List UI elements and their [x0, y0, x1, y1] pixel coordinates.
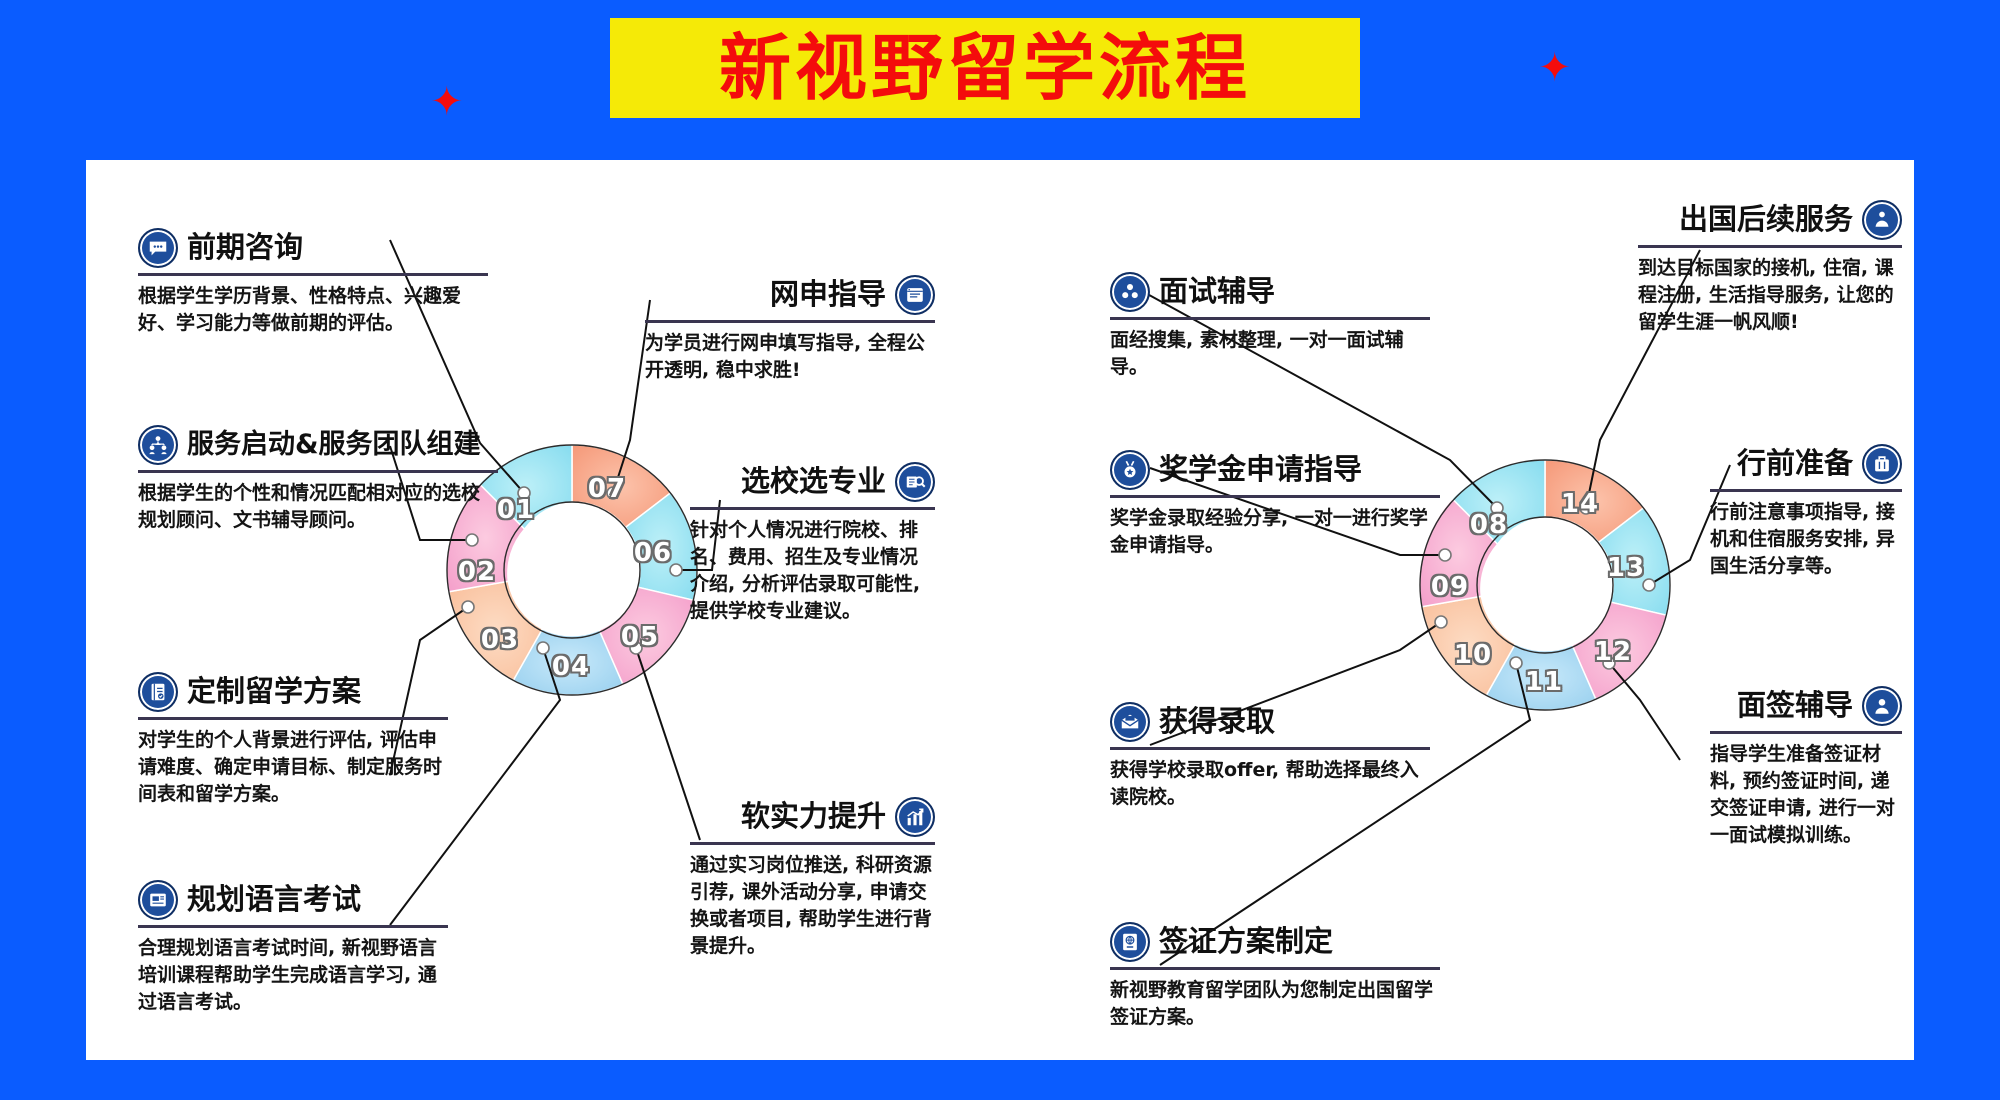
step-title-08: 面试辅导 [1159, 276, 1275, 308]
sparkle-left-icon: ✦ [430, 82, 464, 122]
step-rule-11 [1110, 967, 1440, 970]
step-desc-09: 奖学金录取经验分享, 一对一进行奖学金申请指导。 [1110, 505, 1440, 559]
step-block-06[interactable]: 选校选专业 针对个人情况进行院校、排名、费用、招生及专业情况介绍, 分析评估录取… [690, 462, 935, 625]
step-title-13: 行前准备 [1737, 448, 1853, 480]
step-block-03[interactable]: 定制留学方案 对学生的个人背景进行评估, 评估申请难度、确定申请目标、制定服务时… [138, 672, 448, 808]
step-rule-08 [1110, 317, 1430, 320]
step-rule-13 [1710, 489, 1902, 492]
step-block-05[interactable]: 软实力提升 通过实习岗位推送, 科研资源引荐, 课外活动分享, 申请交换或者项目… [690, 797, 935, 960]
people-group-icon [1110, 272, 1150, 312]
step-title-01: 前期咨询 [187, 232, 303, 264]
step-desc-11: 新视野教育留学团队为您制定出国留学签证方案。 [1110, 977, 1440, 1031]
step-rule-12 [1710, 731, 1902, 734]
speech-bubble-icon [138, 228, 178, 268]
step-block-09[interactable]: 奖学金申请指导 奖学金录取经验分享, 一对一进行奖学金申请指导。 [1110, 450, 1440, 559]
step-header-10: 获得录取 [1110, 702, 1430, 747]
step-title-03: 定制留学方案 [187, 676, 361, 708]
step-title-02: 服务启动&服务团队组建 [187, 430, 481, 460]
sparkle-right-icon: ✦ [1538, 48, 1572, 88]
step-desc-06: 针对个人情况进行院校、排名、费用、招生及专业情况介绍, 分析评估录取可能性, 提… [690, 517, 935, 625]
step-title-06: 选校选专业 [741, 466, 886, 498]
step-desc-13: 行前注意事项指导, 接机和住宿服务安排, 异国生活分享等。 [1710, 499, 1902, 580]
step-desc-08: 面经搜集, 素材整理, 一对一面试辅导。 [1110, 327, 1430, 381]
step-header-05: 软实力提升 [690, 797, 935, 842]
medal-icon [1110, 450, 1150, 490]
step-desc-04: 合理规划语言考试时间, 新视野语言培训课程帮助学生完成语言学习, 通过语言考试。 [138, 935, 448, 1016]
step-rule-09 [1110, 495, 1440, 498]
step-block-14[interactable]: 出国后续服务 到达目标国家的接机, 住宿, 课程注册, 生活指导服务, 让您的留… [1638, 200, 1902, 336]
passport-icon [1110, 922, 1150, 962]
step-block-01[interactable]: 前期咨询 根据学生学历背景、性格特点、兴趣爱好、学习能力等做前期的评估。 [138, 228, 488, 337]
step-rule-03 [138, 717, 448, 720]
person-badge-icon [1862, 686, 1902, 726]
support-person-icon [1862, 200, 1902, 240]
infographic-root: ✦ ✦ 新视野留学流程 [0, 0, 2000, 1100]
document-plan-icon [138, 672, 178, 712]
step-rule-06 [690, 507, 935, 510]
step-header-02: 服务启动&服务团队组建 [138, 425, 498, 470]
step-block-02[interactable]: 服务启动&服务团队组建 根据学生的个性和情况匹配相对应的选校规划顾问、文书辅导顾… [138, 425, 498, 534]
step-rule-05 [690, 842, 935, 845]
step-header-03: 定制留学方案 [138, 672, 448, 717]
step-rule-14 [1638, 245, 1902, 248]
step-block-11[interactable]: 签证方案制定 新视野教育留学团队为您制定出国留学签证方案。 [1110, 922, 1440, 1031]
step-block-13[interactable]: 行前准备 行前注意事项指导, 接机和住宿服务安排, 异国生活分享等。 [1710, 444, 1902, 580]
step-rule-07 [645, 320, 935, 323]
step-header-08: 面试辅导 [1110, 272, 1430, 317]
step-rule-02 [138, 470, 498, 473]
step-desc-03: 对学生的个人背景进行评估, 评估申请难度、确定申请目标、制定服务时间表和留学方案… [138, 727, 448, 808]
search-book-icon [895, 462, 935, 502]
team-icon [138, 425, 178, 465]
step-title-05: 软实力提升 [741, 801, 886, 833]
page-title-band: 新视野留学流程 [610, 18, 1360, 118]
growth-chart-icon [895, 797, 935, 837]
online-form-icon [895, 275, 935, 315]
step-rule-04 [138, 925, 448, 928]
step-block-12[interactable]: 面签辅导 指导学生准备签证材料, 预约签证时间, 递交签证申请, 进行一对一面试… [1710, 686, 1902, 849]
step-header-06: 选校选专业 [690, 462, 935, 507]
page-title: 新视野留学流程 [719, 32, 1251, 104]
step-header-01: 前期咨询 [138, 228, 488, 273]
step-title-14: 出国后续服务 [1679, 204, 1853, 236]
step-header-04: 规划语言考试 [138, 880, 448, 925]
step-title-07: 网申指导 [770, 279, 886, 311]
step-rule-01 [138, 273, 488, 276]
step-title-12: 面签辅导 [1737, 690, 1853, 722]
exam-board-icon [138, 880, 178, 920]
step-block-10[interactable]: 获得录取 获得学校录取offer, 帮助选择最终入读院校。 [1110, 702, 1430, 811]
suitcase-icon [1862, 444, 1902, 484]
step-desc-12: 指导学生准备签证材料, 预约签证时间, 递交签证申请, 进行一对一面试模拟训练。 [1710, 741, 1902, 849]
step-block-04[interactable]: 规划语言考试 合理规划语言考试时间, 新视野语言培训课程帮助学生完成语言学习, … [138, 880, 448, 1016]
step-desc-05: 通过实习岗位推送, 科研资源引荐, 课外活动分享, 申请交换或者项目, 帮助学生… [690, 852, 935, 960]
step-desc-10: 获得学校录取offer, 帮助选择最终入读院校。 [1110, 757, 1430, 811]
step-desc-02: 根据学生的个性和情况匹配相对应的选校规划顾问、文书辅导顾问。 [138, 480, 498, 534]
step-rule-10 [1110, 747, 1430, 750]
step-header-07: 网申指导 [645, 275, 935, 320]
step-title-10: 获得录取 [1159, 706, 1275, 738]
step-block-07[interactable]: 网申指导 为学员进行网申填写指导, 全程公开透明, 稳中求胜! [645, 275, 935, 384]
step-desc-14: 到达目标国家的接机, 住宿, 课程注册, 生活指导服务, 让您的留学生涯一帆风顺… [1638, 255, 1902, 336]
step-title-09: 奖学金申请指导 [1159, 454, 1362, 486]
step-title-04: 规划语言考试 [187, 884, 361, 916]
step-header-11: 签证方案制定 [1110, 922, 1440, 967]
envelope-open-icon [1110, 702, 1150, 742]
step-header-12: 面签辅导 [1710, 686, 1902, 731]
step-desc-01: 根据学生学历背景、性格特点、兴趣爱好、学习能力等做前期的评估。 [138, 283, 488, 337]
step-block-08[interactable]: 面试辅导 面经搜集, 素材整理, 一对一面试辅导。 [1110, 272, 1430, 381]
step-desc-07: 为学员进行网申填写指导, 全程公开透明, 稳中求胜! [645, 330, 935, 384]
step-header-13: 行前准备 [1710, 444, 1902, 489]
step-header-09: 奖学金申请指导 [1110, 450, 1440, 495]
step-title-11: 签证方案制定 [1159, 926, 1333, 958]
step-header-14: 出国后续服务 [1638, 200, 1902, 245]
